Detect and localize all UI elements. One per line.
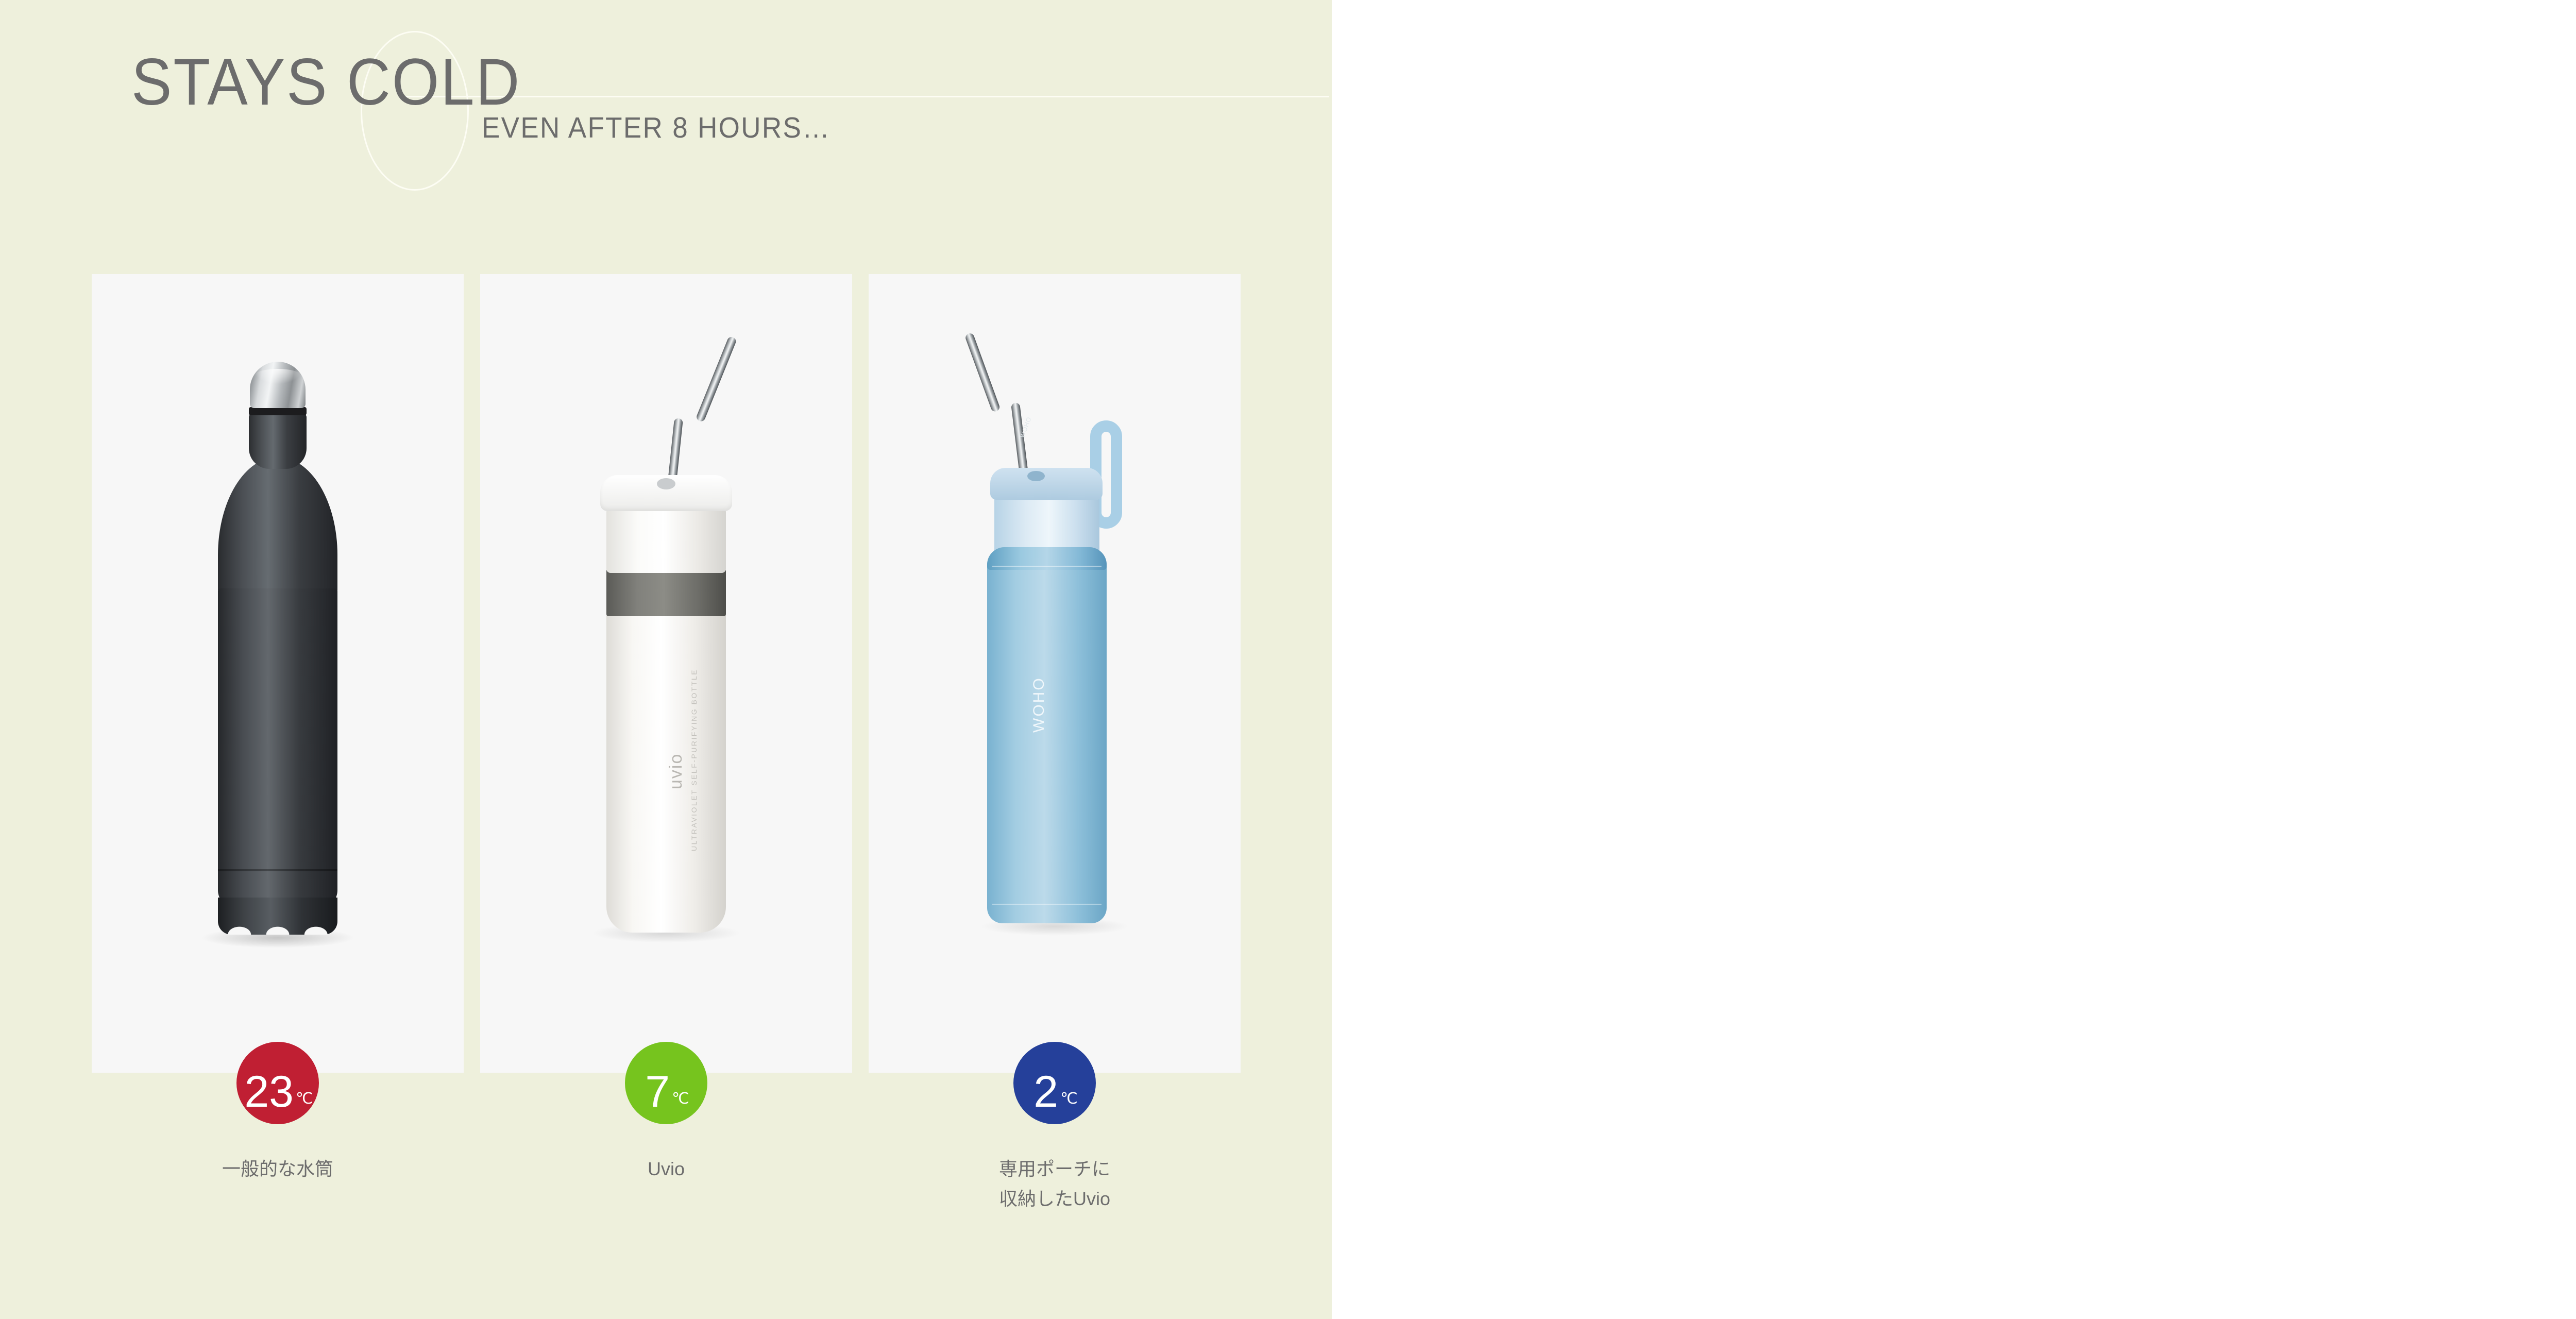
bottle-neck <box>249 413 307 469</box>
lid-straw-hole <box>1027 471 1045 481</box>
product-label: Uvio <box>480 1154 852 1184</box>
product-label: 一般的な水筒 <box>92 1154 464 1184</box>
temperature-value: 7 <box>645 1070 670 1114</box>
uvio-bottle-image: uvio ULTRAVIOLET SELF-PURIFYING BOTTLE <box>589 331 743 949</box>
pouch-stitch <box>992 566 1101 567</box>
bottle-stage: WOHO WOHO <box>869 274 1241 1047</box>
bottle-tagline-text: ULTRAVIOLET SELF-PURIFYING BOTTLE <box>690 669 698 851</box>
bottle-stage <box>92 274 464 1047</box>
page-title: STAYS COLD <box>131 44 521 120</box>
bottle-grip-band <box>606 569 726 616</box>
temperature-chart-panel: Temperature 26℃232118151210741-1 WARM CO… <box>1332 0 2576 1319</box>
bottle-body <box>218 588 337 908</box>
bottle-logo-text: uvio <box>666 753 686 789</box>
pouch-sleeve <box>987 547 1107 923</box>
bottle-lid <box>990 468 1103 500</box>
temperature-unit: ℃ <box>672 1091 689 1107</box>
page-subtitle: EVEN AFTER 8 HOURS… <box>482 111 831 145</box>
straw-icon <box>964 332 1001 413</box>
stays-cold-panel: STAYS COLD EVEN AFTER 8 HOURS… <box>0 0 1332 1319</box>
temperature-badge: 2 ℃ <box>1013 1042 1096 1124</box>
uvio-pouch-bottle-image: WOHO WOHO <box>970 326 1140 954</box>
bottle-stage: uvio ULTRAVIOLET SELF-PURIFYING BOTTLE <box>480 274 852 1047</box>
bottle-base <box>218 898 337 935</box>
straw-icon <box>696 336 737 423</box>
temperature-badge: 7 ℃ <box>625 1042 707 1124</box>
hero-divider-line <box>402 96 1329 97</box>
bottle-collar <box>249 407 307 415</box>
temperature-badge: 23 ℃ <box>236 1042 319 1124</box>
temperature-value: 2 <box>1033 1070 1058 1114</box>
lid-straw-hole <box>657 478 675 489</box>
pouch-stitch <box>992 904 1101 905</box>
pouch-logo-text: WOHO <box>1030 677 1048 733</box>
hero-header: STAYS COLD EVEN AFTER 8 HOURS… <box>0 0 1332 222</box>
bottle-collar <box>606 508 726 573</box>
temperature-unit: ℃ <box>296 1091 313 1107</box>
classic-bottle-image <box>216 362 340 944</box>
bottle-base-ring <box>218 869 337 871</box>
bottle-shoulder <box>218 457 337 601</box>
product-label: 専用ポーチに収納したUvio <box>869 1154 1241 1214</box>
bottle-cap-icon <box>250 362 306 408</box>
temperature-value: 23 <box>244 1070 294 1114</box>
temperature-unit: ℃ <box>1060 1091 1078 1107</box>
